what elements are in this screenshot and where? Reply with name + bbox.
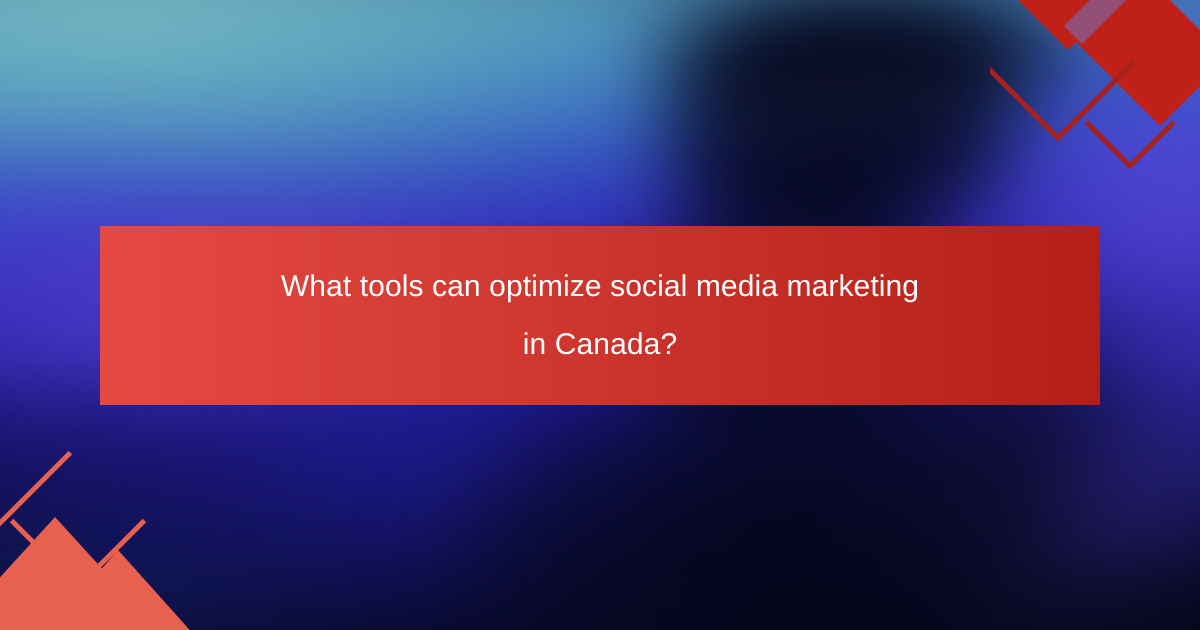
page-title: What tools can optimize social media mar… [280, 258, 920, 374]
social-card: What tools can optimize social media mar… [0, 0, 1200, 630]
headline-banner: What tools can optimize social media mar… [100, 226, 1100, 405]
